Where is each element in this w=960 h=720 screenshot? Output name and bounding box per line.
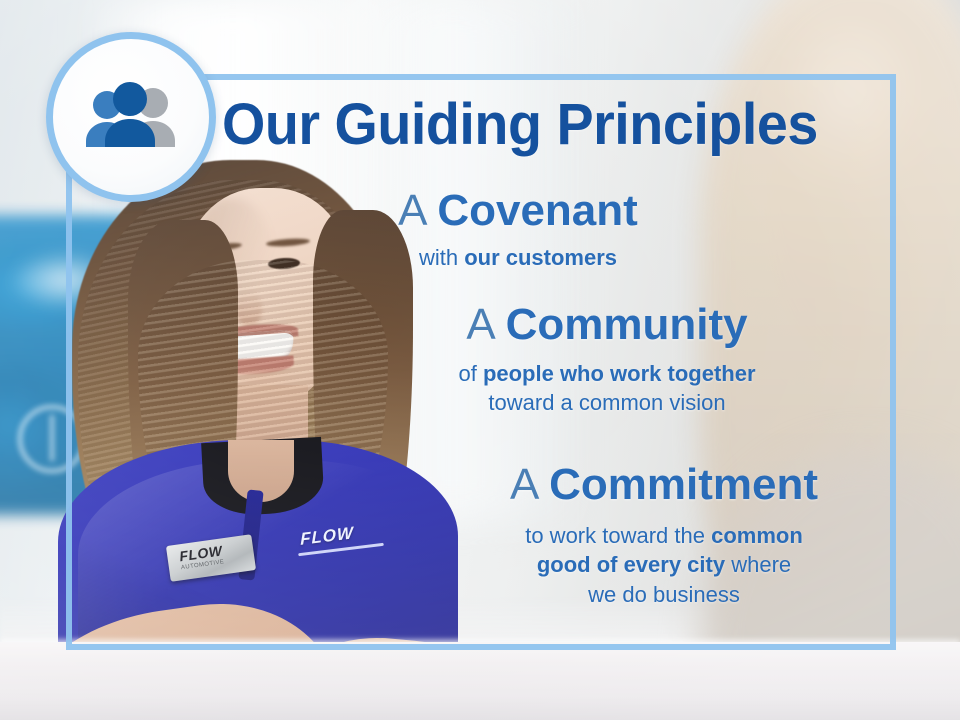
principle-community-sub-bold: people who work together	[483, 361, 756, 386]
principle-commitment-subtext: to work toward the common good of every …	[436, 521, 892, 609]
principle-commitment-sub-bold-2: good of every city	[537, 552, 725, 577]
principle-covenant-sub-light: with	[419, 245, 464, 270]
guiding-principles-graphic: FLOW FLOW AUTOMOTIVE Our Guiding Princip…	[0, 0, 960, 720]
principle-commitment-sub-line1: to work toward the common	[436, 521, 892, 550]
principle-commitment-sub-line2: good of every city where	[436, 550, 892, 579]
page-title: Our Guiding Principles	[222, 96, 818, 154]
principle-community-word: Community	[506, 300, 748, 349]
principle-community-sub-light: of	[458, 361, 482, 386]
principle-covenant-sub-bold: our customers	[464, 245, 617, 270]
people-group-icon	[79, 81, 183, 153]
principle-commitment-word: Commitment	[549, 460, 818, 509]
principle-commitment-sub-light-2: where	[725, 552, 791, 577]
principle-commitment-heading: A Commitment	[436, 462, 892, 509]
principle-community: A Community of people who work together …	[372, 302, 842, 418]
principle-commitment-sub-light-1: to work toward the	[525, 523, 711, 548]
principle-commitment-article: A	[510, 460, 537, 509]
principle-community-subtext: of people who work together toward a com…	[372, 359, 842, 418]
principle-covenant-article: A	[398, 186, 425, 235]
principle-community-article: A	[466, 300, 493, 349]
principle-commitment-sub-bold-1: common	[711, 523, 803, 548]
principle-commitment: A Commitment to work toward the common g…	[436, 462, 892, 609]
white-desk-surface	[0, 642, 960, 720]
principle-commitment-sub-line3: we do business	[436, 580, 892, 609]
principle-covenant-subtext: with our customers	[318, 243, 718, 272]
principle-community-sub-line1: of people who work together	[372, 359, 842, 388]
principle-community-heading: A Community	[372, 302, 842, 349]
principle-covenant-word: Covenant	[437, 186, 637, 235]
people-group-badge	[46, 32, 216, 202]
principle-covenant: A Covenant with our customers	[318, 188, 718, 272]
principle-community-sub-line2: toward a common vision	[372, 388, 842, 417]
principle-covenant-heading: A Covenant	[318, 188, 718, 235]
